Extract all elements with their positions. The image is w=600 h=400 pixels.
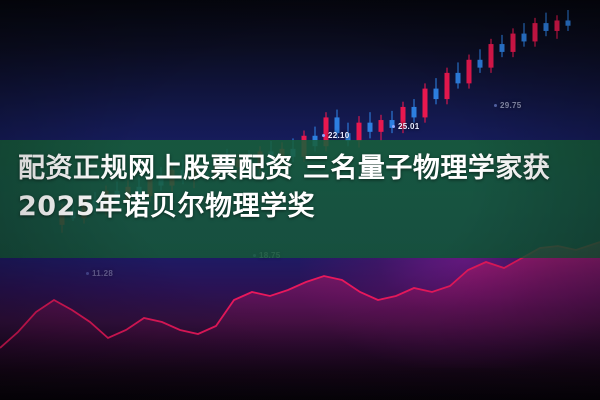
screenshot-root: 22.1025.0129.7518.0718.7511.28 配资正规网上股票配… xyxy=(0,0,600,400)
vignette-overlay xyxy=(0,0,600,400)
